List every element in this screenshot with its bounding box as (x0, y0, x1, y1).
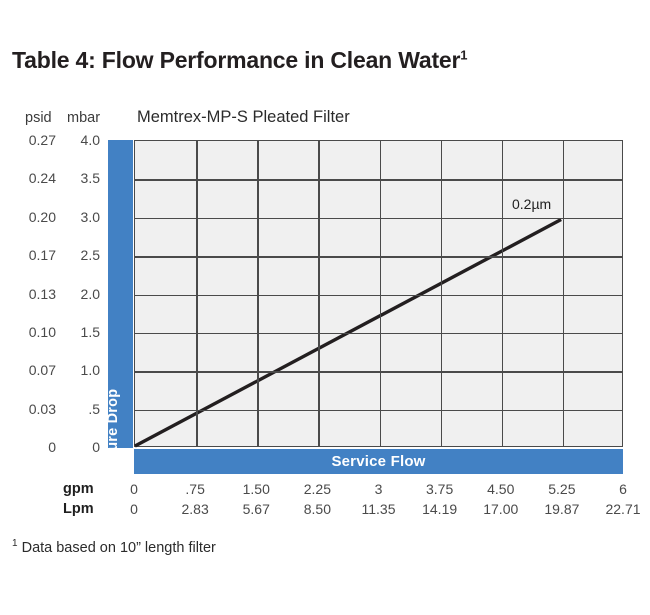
x-tick-label-Lpm: 17.00 (483, 501, 518, 517)
x-tick-label-gpm: .75 (185, 481, 204, 497)
x-tick-label-gpm: 3 (375, 481, 383, 497)
gridline-horizontal (135, 295, 622, 296)
y-tick-label-mbar: 4.0 (62, 132, 100, 148)
gridline-horizontal (135, 371, 622, 372)
y-tick-label-psid: 0.24 (18, 170, 56, 186)
y-tick-label-psid: 0 (18, 439, 56, 455)
page-title-text: Table 4: Flow Performance in Clean Water (12, 47, 460, 73)
y-tick-label-psid: 0.17 (18, 247, 56, 263)
x-tick-label-gpm: 1.50 (243, 481, 270, 497)
x-tick-label-Lpm: 5.67 (243, 501, 270, 517)
gridline-horizontal (135, 333, 622, 334)
x-tick-label-gpm: 0 (130, 481, 138, 497)
gridline-vertical (318, 141, 319, 446)
x-axis-unit-lpm: Lpm (63, 501, 94, 517)
x-axis-title-label: Service Flow (331, 453, 425, 470)
series-line-0.2um (135, 141, 622, 446)
plot-area (134, 140, 623, 447)
y-tick-label-psid: 0.27 (18, 132, 56, 148)
page-title: Table 4: Flow Performance in Clean Water… (12, 47, 467, 74)
x-tick-label-Lpm: 11.35 (362, 501, 396, 517)
y-axis-title-bar: Pressure Drop (108, 140, 133, 448)
chart-subtitle: Memtrex-MP-S Pleated Filter (137, 108, 350, 127)
x-tick-label-gpm: 4.50 (487, 481, 514, 497)
page-title-footnote-marker: 1 (460, 47, 467, 62)
x-tick-label-Lpm: 8.50 (304, 501, 331, 517)
y-tick-label-mbar: 3.0 (62, 209, 100, 225)
x-tick-label-gpm: 6 (619, 481, 627, 497)
y-tick-label-mbar: 1.0 (62, 362, 100, 378)
x-tick-label-Lpm: 2.83 (182, 501, 209, 517)
gridline-vertical (563, 141, 564, 446)
y-tick-label-psid: 0.20 (18, 209, 56, 225)
x-axis-unit-gpm: gpm (63, 481, 94, 497)
series-annotation-0.2um: 0.2µm (512, 196, 551, 212)
gridline-vertical (380, 141, 381, 446)
y-tick-label-psid: 0.10 (18, 324, 56, 340)
y-tick-label-mbar: 2.0 (62, 286, 100, 302)
gridline-vertical (441, 141, 442, 446)
x-tick-label-gpm: 2.25 (304, 481, 331, 497)
y-tick-label-psid: 0.13 (18, 286, 56, 302)
x-axis-title-bar: Service Flow (134, 449, 623, 474)
x-tick-label-gpm: 5.25 (548, 481, 575, 497)
y-tick-label-mbar: 0 (62, 439, 100, 455)
y-axis-unit-psid: psid (25, 110, 52, 126)
y-tick-label-psid: 0.07 (18, 362, 56, 378)
y-tick-label-mbar: 2.5 (62, 247, 100, 263)
gridline-vertical (257, 141, 258, 446)
y-tick-label-mbar: 1.5 (62, 324, 100, 340)
x-tick-label-Lpm: 19.87 (544, 501, 579, 517)
x-tick-label-Lpm: 14.19 (422, 501, 457, 517)
gridline-vertical (196, 141, 197, 446)
x-tick-label-gpm: 3.75 (426, 481, 453, 497)
gridline-vertical (502, 141, 503, 446)
y-tick-label-mbar: .5 (62, 401, 100, 417)
footnote: 1 Data based on 10” length filter (12, 538, 216, 556)
gridline-horizontal (135, 256, 622, 257)
gridline-horizontal (135, 410, 622, 411)
y-tick-label-psid: 0.03 (18, 401, 56, 417)
y-axis-unit-mbar: mbar (67, 110, 100, 126)
x-tick-label-Lpm: 0 (130, 501, 138, 517)
y-tick-label-mbar: 3.5 (62, 170, 100, 186)
gridline-horizontal (135, 179, 622, 180)
x-tick-label-Lpm: 22.71 (605, 501, 640, 517)
y-axis-title-label: Pressure Drop (105, 389, 121, 492)
footnote-text: Data based on 10” length filter (18, 540, 216, 556)
gridline-horizontal (135, 218, 622, 219)
